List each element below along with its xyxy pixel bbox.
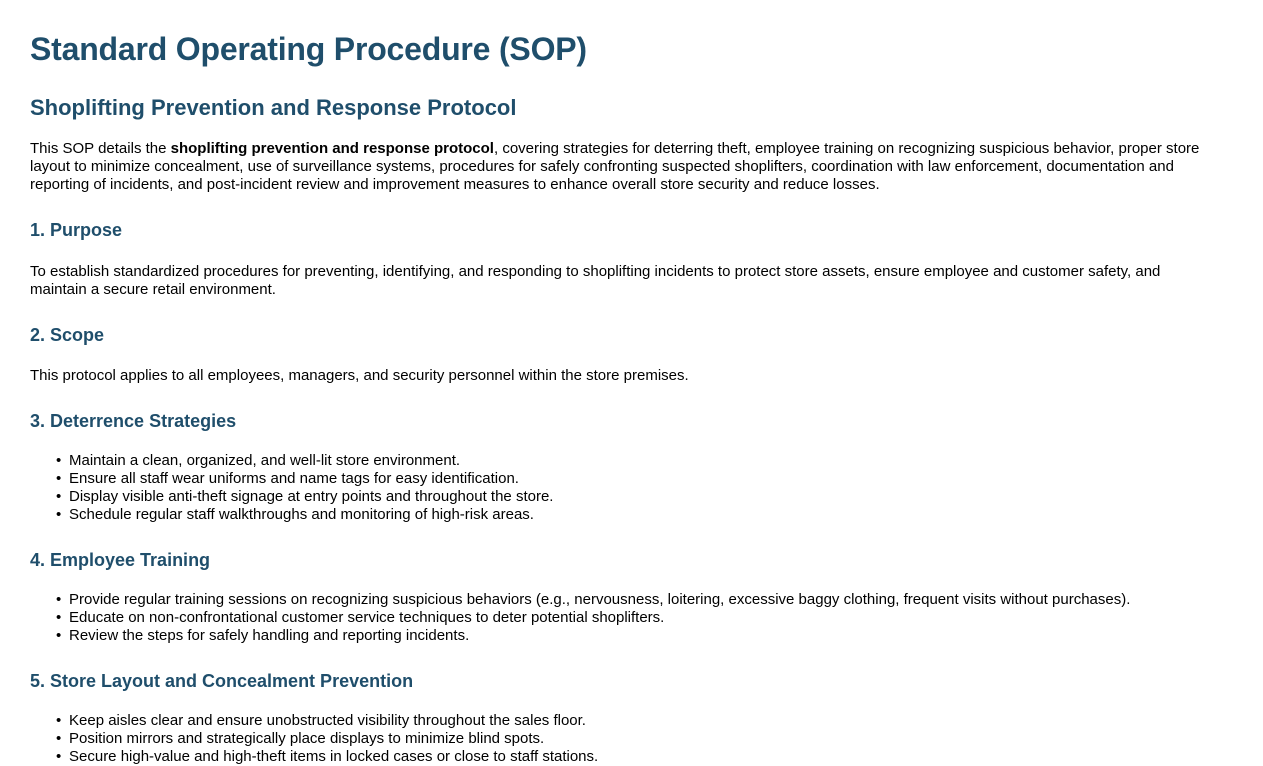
- employee-training-list: Provide regular training sessions on rec…: [30, 571, 1233, 645]
- section-store-layout-concealment-prevention: 5. Store Layout and Concealment Preventi…: [30, 645, 1233, 766]
- section-deterrence-strategies: 3. Deterrence Strategies Maintain a clea…: [30, 385, 1233, 524]
- list-item: Position mirrors and strategically place…: [30, 730, 1233, 748]
- intro-text-before: This SOP details the: [30, 140, 171, 157]
- list-item: Educate on non-confrontational customer …: [30, 609, 1233, 627]
- page-title: Standard Operating Procedure (SOP): [30, 0, 1233, 68]
- section-paragraph-scope: This protocol applies to all employees, …: [30, 345, 1210, 385]
- list-item: Display visible anti-theft signage at en…: [30, 488, 1233, 506]
- section-scope: 2. Scope This protocol applies to all em…: [30, 299, 1233, 386]
- list-item: Secure high-value and high-theft items i…: [30, 748, 1233, 766]
- store-layout-list: Keep aisles clear and ensure unobstructe…: [30, 692, 1233, 766]
- intro-bold-phrase: shoplifting prevention and response prot…: [171, 140, 494, 157]
- section-heading-purpose: 1. Purpose: [30, 194, 1233, 241]
- section-heading-employee-training: 4. Employee Training: [30, 524, 1233, 571]
- section-employee-training: 4. Employee Training Provide regular tra…: [30, 524, 1233, 645]
- list-item: Review the steps for safely handling and…: [30, 627, 1233, 645]
- section-heading-deterrence-strategies: 3. Deterrence Strategies: [30, 385, 1233, 432]
- document-subtitle: Shoplifting Prevention and Response Prot…: [30, 68, 1233, 120]
- list-item: Maintain a clean, organized, and well-li…: [30, 452, 1233, 470]
- section-purpose: 1. Purpose To establish standardized pro…: [30, 194, 1233, 299]
- list-item: Provide regular training sessions on rec…: [30, 591, 1233, 609]
- section-heading-scope: 2. Scope: [30, 299, 1233, 346]
- deterrence-strategies-list: Maintain a clean, organized, and well-li…: [30, 432, 1233, 524]
- list-item: Ensure all staff wear uniforms and name …: [30, 470, 1233, 488]
- intro-paragraph: This SOP details the shoplifting prevent…: [30, 120, 1210, 194]
- list-item: Schedule regular staff walkthroughs and …: [30, 506, 1233, 524]
- section-paragraph-purpose: To establish standardized procedures for…: [30, 241, 1210, 299]
- section-heading-store-layout-concealment-prevention: 5. Store Layout and Concealment Preventi…: [30, 645, 1233, 692]
- document-page: Standard Operating Procedure (SOP) Shopl…: [0, 0, 1263, 766]
- list-item: Keep aisles clear and ensure unobstructe…: [30, 712, 1233, 730]
